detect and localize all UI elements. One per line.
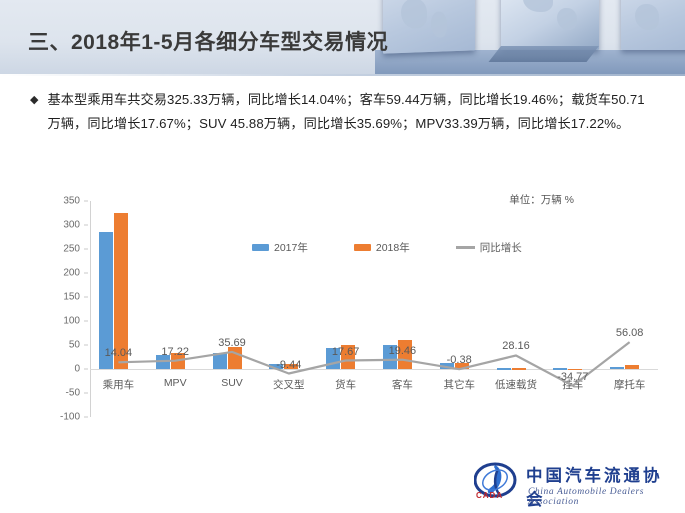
deco-cube-icon: [383, 0, 475, 54]
header-decoration: [375, 0, 685, 76]
bullet-paragraph: 基本型乘用车共交易325.33万辆，同比增长14.04%；客车59.44万辆，同…: [47, 88, 657, 136]
y-axis-tick-label: -100: [60, 412, 80, 423]
y-axis-tick-label: 350: [63, 196, 80, 207]
y-axis-tick-mark: [84, 345, 88, 346]
bullet-row: ◆ 基本型乘用车共交易325.33万辆，同比增长14.04%；客车59.44万辆…: [30, 88, 670, 136]
y-axis-tick-mark: [84, 369, 88, 370]
line-point-label: -0.38: [447, 354, 472, 366]
cada-logo: CADA 中国汽车流通协会 China Automobile Dealers A…: [472, 457, 677, 509]
line-point-label: 28.16: [502, 340, 530, 352]
line-point-label: 17.22: [161, 346, 189, 358]
chart: 单位：万辆 % 2017年2018年同比增长 35030025020015010…: [52, 182, 672, 442]
y-axis-tick-label: 300: [63, 220, 80, 231]
y-axis-tick-mark: [84, 225, 88, 226]
y-axis-tick-mark: [84, 201, 88, 202]
y-axis-tick-label: 150: [63, 292, 80, 303]
bullet-block: ◆ 基本型乘用车共交易325.33万辆，同比增长14.04%；客车59.44万辆…: [30, 88, 670, 136]
deco-cube-icon: [621, 0, 685, 50]
header-band: 三、2018年1-5月各细分车型交易情况: [0, 0, 685, 76]
y-axis-tick-label: 100: [63, 316, 80, 327]
y-axis-tick-mark: [84, 249, 88, 250]
header-underline: [0, 74, 685, 76]
slide: 三、2018年1-5月各细分车型交易情况 ◆ 基本型乘用车共交易325.33万辆…: [0, 0, 685, 513]
line-point-label: -9.44: [276, 359, 301, 371]
y-axis-tick-mark: [84, 393, 88, 394]
y-axis: 350300250200150100500-50-100: [52, 201, 88, 417]
cada-abbr: CADA: [476, 491, 503, 500]
y-axis-tick-label: 0: [74, 364, 80, 375]
y-axis-tick-label: 200: [63, 268, 80, 279]
y-axis-tick-label: -50: [66, 388, 80, 399]
y-axis-tick-mark: [84, 297, 88, 298]
y-axis-tick-mark: [84, 321, 88, 322]
growth-line: [118, 342, 629, 386]
chart-plot-area: 350300250200150100500-50-100 乘用车MPVSUV交叉…: [90, 201, 658, 417]
diamond-bullet-icon: ◆: [30, 88, 38, 112]
growth-line-series: [90, 201, 658, 417]
line-point-label: 17.67: [332, 346, 360, 358]
line-point-label: 14.04: [105, 347, 133, 359]
page-title: 三、2018年1-5月各细分车型交易情况: [28, 26, 388, 56]
y-axis-tick-mark: [84, 417, 88, 418]
line-point-label: 35.69: [218, 337, 246, 349]
y-axis-tick-label: 50: [69, 340, 80, 351]
logo-english-name: China Automobile Dealers Association: [528, 487, 677, 507]
line-point-label: -34.77: [557, 371, 588, 383]
deco-cube-icon: [501, 0, 599, 50]
y-axis-tick-mark: [84, 273, 88, 274]
y-axis-tick-label: 250: [63, 244, 80, 255]
line-point-label: 56.08: [616, 327, 644, 339]
line-point-label: 19.46: [389, 345, 417, 357]
